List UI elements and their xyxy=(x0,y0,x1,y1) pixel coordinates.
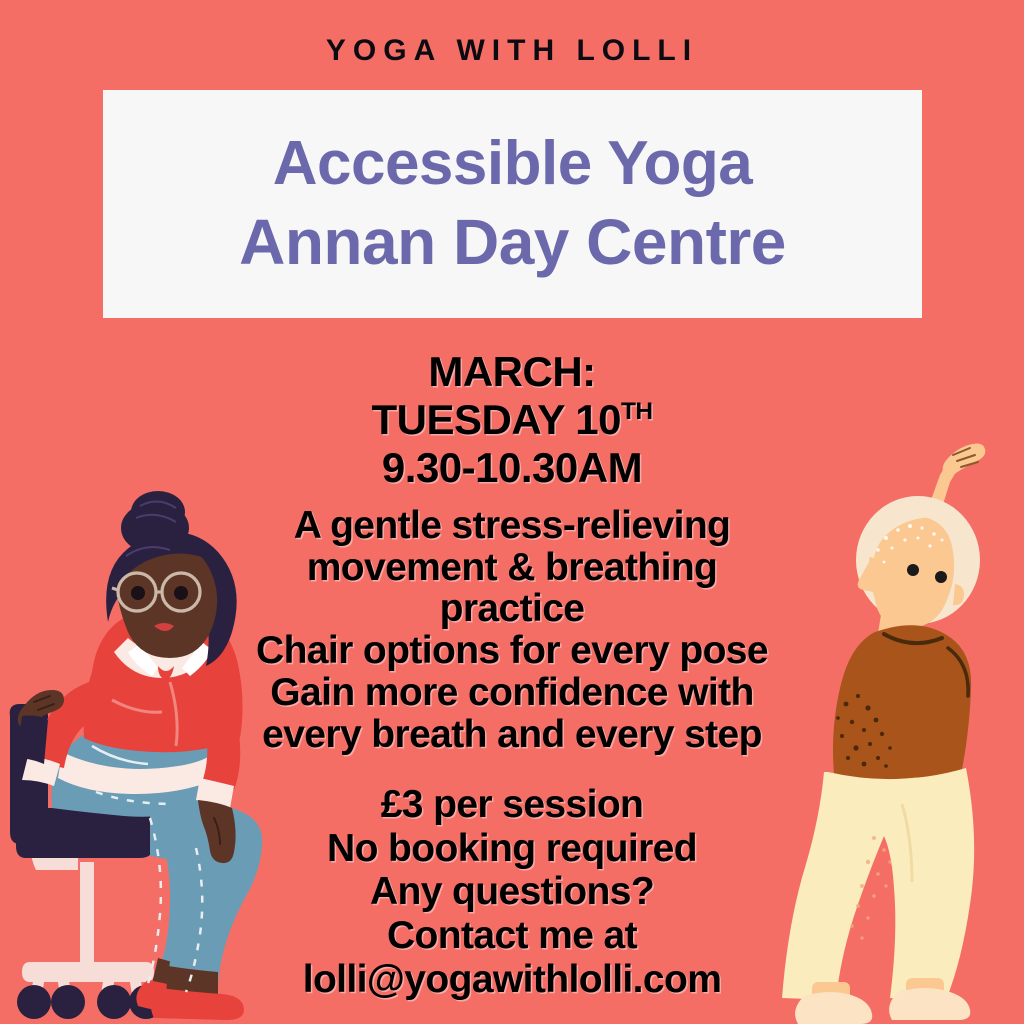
contact-email: lolli@yogawithlolli.com xyxy=(0,958,1024,1002)
description-line: Chair options for every pose xyxy=(0,630,1024,672)
title-panel: Accessible Yoga Annan Day Centre xyxy=(103,90,922,318)
title-line-2: Annan Day Centre xyxy=(239,208,786,277)
poster-text-layer: YOGA WITH LOLLI Accessible Yoga Annan Da… xyxy=(0,0,1024,1024)
booking-line: No booking required xyxy=(0,827,1024,871)
schedule-month: MARCH: xyxy=(0,348,1024,396)
schedule-time: 9.30-10.30AM xyxy=(0,444,1024,492)
contact-line: Contact me at xyxy=(0,914,1024,958)
description-line: Gain more confidence with xyxy=(0,672,1024,714)
price-line: £3 per session xyxy=(0,783,1024,827)
booking-block: £3 per session No booking required Any q… xyxy=(0,783,1024,1001)
schedule-day: TUESDAY 10TH xyxy=(0,396,1024,444)
description-block: A gentle stress-relieving movement & bre… xyxy=(0,505,1024,755)
description-line: A gentle stress-relieving xyxy=(0,505,1024,547)
brand-name: YOGA WITH LOLLI xyxy=(0,34,1024,68)
description-line: practice xyxy=(0,588,1024,630)
schedule-day-prefix: TUESDAY 10 xyxy=(372,396,621,443)
poster-canvas: YOGA WITH LOLLI Accessible Yoga Annan Da… xyxy=(0,0,1024,1024)
schedule-block: MARCH: TUESDAY 10TH 9.30-10.30AM xyxy=(0,348,1024,492)
schedule-day-suffix: TH xyxy=(621,398,652,425)
description-line: movement & breathing xyxy=(0,547,1024,589)
description-line: every breath and every step xyxy=(0,714,1024,756)
title-line-1: Accessible Yoga xyxy=(273,131,753,198)
questions-line: Any questions? xyxy=(0,870,1024,914)
